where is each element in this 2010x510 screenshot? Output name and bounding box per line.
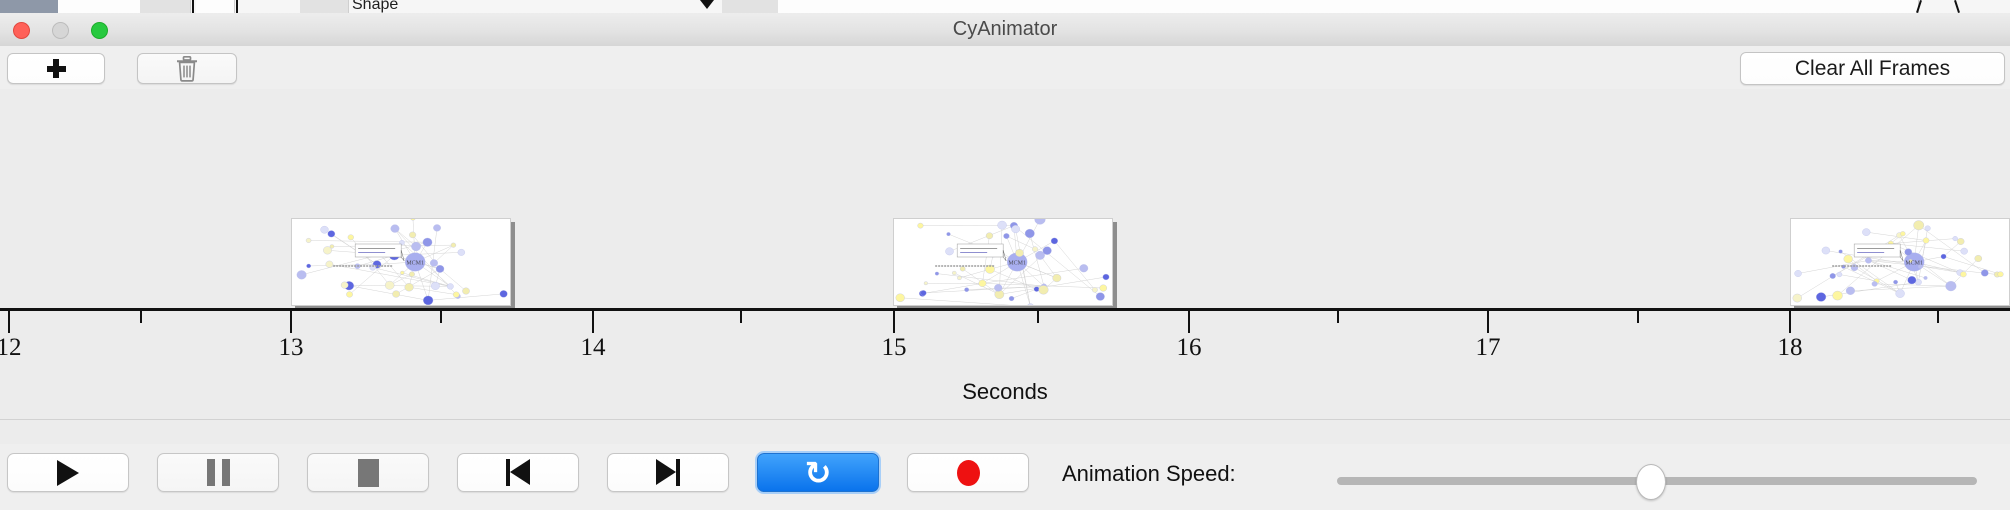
bg-tab-6 [722, 0, 779, 13]
background-window-strip: Shape [0, 0, 2010, 14]
ruler-tick-16 [1188, 311, 1190, 333]
stop-icon [358, 459, 379, 487]
clear-all-frames-button[interactable]: Clear All Frames [1740, 52, 2005, 85]
bg-mark-2 [236, 0, 238, 13]
record-icon [957, 460, 980, 486]
ruler-tick-label: 14 [581, 334, 606, 362]
ruler-tick-15 [893, 311, 895, 333]
background-window-label: Shape [352, 0, 398, 14]
play-button[interactable] [7, 453, 129, 492]
minimize-button[interactable] [52, 22, 69, 39]
animation-speed-label: Animation Speed: [1062, 461, 1236, 487]
frame-canvas: MCM1 [893, 218, 1113, 306]
ruler-tick-13 [290, 311, 292, 333]
ruler-tick-14 [592, 311, 594, 333]
page-title: CyAnimator [0, 13, 2010, 46]
bg-tab-1 [0, 0, 59, 13]
ruler-tick-label: 18 [1778, 334, 1803, 362]
ruler-tick-14.5 [740, 311, 742, 323]
ruler-tick-label: 16 [1177, 334, 1202, 362]
plus-icon [47, 59, 66, 78]
loop-button[interactable]: ↻ [757, 453, 879, 492]
ruler-tick-label: 12 [0, 334, 22, 362]
timeline-ruler[interactable]: 12131415161718 [0, 308, 2010, 368]
trash-icon [176, 56, 198, 82]
close-button[interactable] [13, 22, 30, 39]
pause-button[interactable] [157, 453, 279, 492]
bg-wedge-icon [700, 0, 714, 9]
ruler-tick-label: 13 [279, 334, 304, 362]
toolbar: Clear All Frames [0, 46, 2010, 90]
pause-icon [207, 459, 230, 486]
zoom-button[interactable] [91, 22, 108, 39]
svg-text:MCM1: MCM1 [1008, 260, 1026, 266]
delete-frame-button[interactable] [137, 53, 237, 84]
svg-text:MCM1: MCM1 [406, 260, 424, 266]
ruler-tick-label: 17 [1476, 334, 1501, 362]
frame-thumbnail-3[interactable]: MCM1 [1790, 218, 2010, 308]
bg-tab-7 [778, 0, 1919, 13]
loop-icon: ↻ [805, 457, 832, 489]
frame-canvas: MCM1 [1790, 218, 2010, 306]
bg-mark-1 [192, 0, 194, 13]
skip-to-start-icon [506, 459, 530, 486]
network-graph: MCM1 [292, 219, 510, 305]
ruler-tick-18 [1789, 311, 1791, 333]
bg-tab-5 [300, 0, 349, 13]
animation-speed-slider-knob[interactable] [1636, 464, 1666, 500]
svg-text:MCM1: MCM1 [1905, 260, 1923, 266]
add-frame-button[interactable] [7, 53, 105, 84]
ruler-tick-17 [1487, 311, 1489, 333]
network-graph: MCM1 [1791, 219, 2009, 305]
ruler-tick-18.5 [1937, 311, 1939, 323]
bg-tab-3 [140, 0, 191, 13]
stop-button[interactable] [307, 453, 429, 492]
ruler-tick-12 [8, 311, 10, 333]
ruler-tick-12.5 [140, 311, 142, 323]
ruler-tick-17.5 [1637, 311, 1639, 323]
axis-title: Seconds [0, 379, 2010, 405]
frame-thumbnail-1[interactable]: MCM1 [291, 218, 513, 308]
bg-tab-2 [58, 0, 141, 13]
frame-canvas: MCM1 [291, 218, 511, 306]
timeline-panel[interactable]: MCM1MCM1MCM1 12131415161718 Seconds [0, 89, 2010, 420]
title-bar[interactable]: CyAnimator [0, 13, 2010, 47]
bg-mark-4 [1954, 0, 1960, 13]
play-icon [57, 460, 79, 486]
ruler-tick-15.5 [1037, 311, 1039, 323]
last-frame-button[interactable] [607, 453, 729, 492]
record-button[interactable] [907, 453, 1029, 492]
clear-all-frames-label: Clear All Frames [1795, 57, 1950, 81]
playback-controls: ↻ Animation Speed: [0, 444, 2010, 510]
ruler-tick-16.5 [1337, 311, 1339, 323]
ruler-tick-label: 15 [882, 334, 907, 362]
first-frame-button[interactable] [457, 453, 579, 492]
cyanimator-window: Shape CyAnimator Clear All Fra [0, 0, 2010, 510]
ruler-tick-13.5 [440, 311, 442, 323]
frame-thumbnail-2[interactable]: MCM1 [893, 218, 1115, 308]
skip-to-end-icon [656, 459, 680, 486]
frames-area[interactable]: MCM1MCM1MCM1 [0, 89, 2010, 308]
bg-tab-4 [196, 0, 235, 13]
network-graph: MCM1 [894, 219, 1112, 305]
ruler-baseline [0, 308, 2010, 311]
